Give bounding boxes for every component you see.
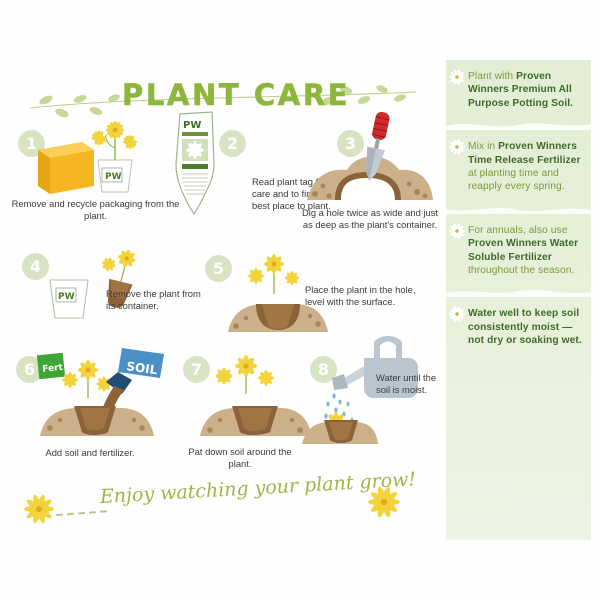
svg-text:SOIL: SOIL [126, 359, 159, 377]
step-art-2-plant-tag: PW [168, 108, 224, 218]
tip-text-4: Water well to keep soil consistently moi… [468, 307, 583, 347]
tagline-flower-left-icon [22, 492, 56, 526]
tip-text-1: Plant with Proven Winners Premium All Pu… [468, 70, 583, 110]
tip-item-4: Water well to keep soil consistently moi… [446, 297, 591, 357]
tip-lead-3: For annuals, also use [468, 225, 568, 236]
tagline-dots [55, 508, 115, 518]
tip-item-3: For annuals, also use Proven Winners Wat… [446, 214, 591, 288]
fertilizer-pack: Fert [37, 353, 65, 380]
tip-lead-1: Plant with [468, 71, 513, 82]
tip-text-3: For annuals, also use Proven Winners Wat… [468, 224, 583, 278]
tip-trail-3: throughout the season. [468, 265, 574, 276]
step-text-1: Remove and recycle packaging from the pl… [8, 198, 183, 222]
tip-divider-3 [446, 287, 591, 297]
daisy-bullet-icon [448, 68, 466, 86]
step-art-1-crate-and-plant: PW [36, 108, 146, 198]
tip-emphasis-3: Proven Winners Water Soluble Fertilizer [468, 238, 578, 262]
daisy-bullet-icon [448, 138, 466, 156]
step-text-4: Remove the plant from its container. [106, 288, 206, 312]
step-art-6-soil-and-fertilizer: Fert SOIL [36, 340, 176, 440]
tip-divider-1 [446, 120, 591, 130]
step-text-6: Add soil and fertilizer. [20, 447, 160, 459]
step-text-5: Place the plant in the hole, level with … [305, 284, 420, 308]
step-art-3-trowel-digging-hole [295, 108, 440, 208]
page-title: PLANT CARE [122, 78, 350, 112]
tip-divider-2 [446, 204, 591, 214]
step-number-4: 4 [22, 253, 49, 280]
svg-text:PW: PW [58, 292, 75, 302]
step-text-8: Water until the soil is moist. [376, 372, 438, 396]
tip-lead-4: Water well to keep soil consistently moi… [468, 308, 582, 346]
tips-sidebar: Plant with Proven Winners Premium All Pu… [446, 60, 591, 540]
step-text-3: Dig a hole twice as wide and just as dee… [300, 207, 440, 231]
svg-text:PW: PW [105, 172, 122, 182]
daisy-bullet-icon [448, 222, 466, 240]
step-art-8-soil-base [300, 398, 380, 448]
tip-trail-2: at planting time and reapply every sprin… [468, 168, 565, 192]
daisy-bullet-icon [448, 305, 466, 323]
tip-item-2: Mix in Proven Winners Time Release Ferti… [446, 130, 591, 204]
tagline-flower-right-icon [366, 484, 402, 520]
svg-text:PW: PW [183, 120, 201, 131]
tip-item-1: Plant with Proven Winners Premium All Pu… [446, 60, 591, 120]
tip-text-2: Mix in Proven Winners Time Release Ferti… [468, 140, 583, 194]
infographic-page: PLANT CARE 1 PW Remov [0, 0, 600, 600]
step-text-7: Pat down soil around the plant. [180, 446, 300, 470]
tip-lead-2: Mix in [468, 141, 498, 152]
